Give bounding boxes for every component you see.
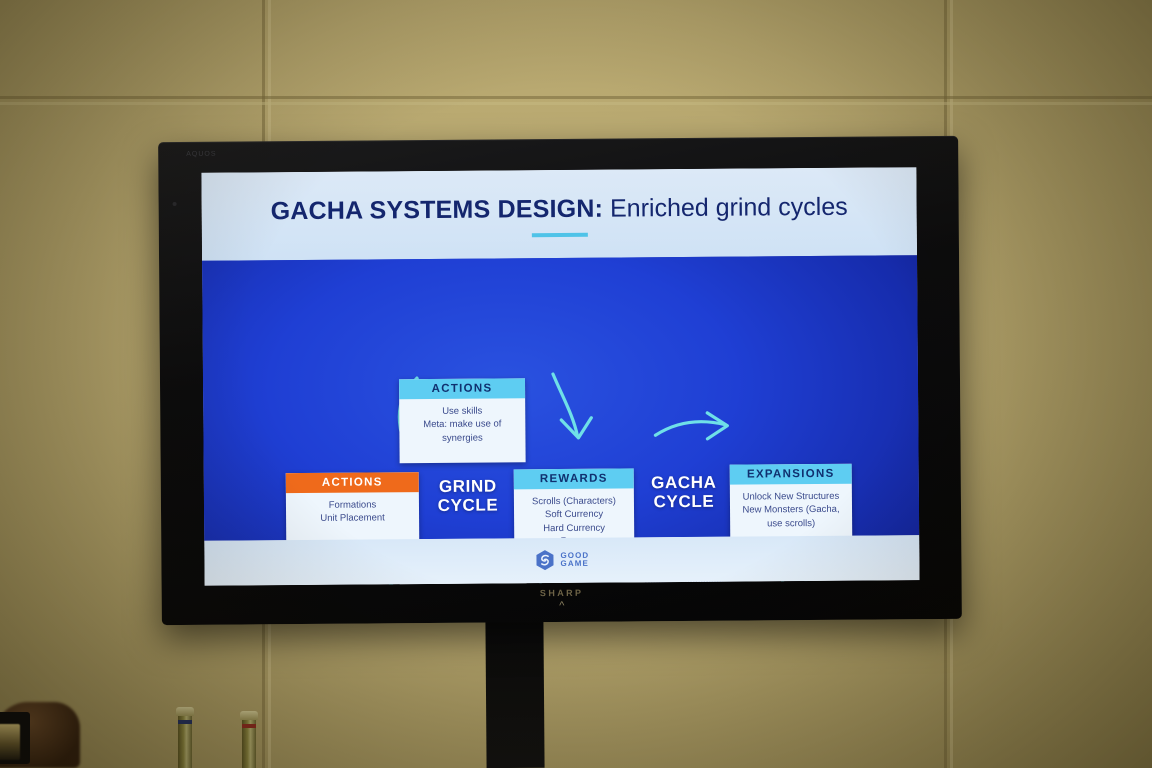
cycle-label-gacha: GACHA CYCLE (642, 473, 726, 512)
bottle-label-band (178, 720, 192, 724)
logo-line-2: GAME (560, 560, 589, 569)
diagram-box-actions-top: ACTIONS Use skills Meta: make use of syn… (399, 378, 526, 463)
wall-seam (0, 96, 1152, 99)
cycle-label-gacha-line1: GACHA (642, 473, 726, 493)
goodgame-hex-icon (534, 549, 554, 571)
box-line: Formations (291, 498, 414, 512)
tv-power-led (173, 202, 177, 206)
title-underline-rule (531, 233, 587, 237)
box-line: Meta: make use of (404, 418, 520, 432)
box-line: New Monsters (Gacha, (735, 503, 847, 517)
box-body: Use skills Meta: make use of synergies (399, 398, 525, 452)
slide-body: GRIND CYCLE GACHA CYCLE ACTIONS Use skil… (202, 255, 919, 541)
bottle (242, 710, 256, 768)
chevron-up-icon: ^ (162, 598, 962, 615)
page-title: GACHA SYSTEMS DESIGN: Enriched grind cyc… (202, 192, 917, 227)
cycle-label-gacha-line2: CYCLE (642, 492, 726, 512)
slide-footer: GOOD GAME (204, 535, 919, 586)
wall-seam (0, 102, 1152, 105)
arrow-curved-down-icon (543, 368, 600, 446)
cycle-label-grind-line1: GRIND (426, 476, 510, 496)
tv-model-label: AQUOS (186, 151, 216, 158)
cycle-label-grind: GRIND CYCLE (426, 476, 510, 515)
slide-header: GACHA SYSTEMS DESIGN: Enriched grind cyc… (201, 167, 917, 261)
box-body: Formations Unit Placement (286, 492, 419, 533)
presentation-slide: GACHA SYSTEMS DESIGN: Enriched grind cyc… (201, 167, 919, 586)
tv-stand (485, 620, 544, 768)
goodgame-wordmark: GOOD GAME (560, 551, 589, 568)
tv-screen: GACHA SYSTEMS DESIGN: Enriched grind cyc… (201, 167, 919, 586)
box-header: EXPANSIONS (730, 464, 852, 485)
box-line: synergies (404, 431, 520, 445)
box-line: Unit Placement (291, 512, 414, 526)
box-header: ACTIONS (399, 378, 525, 399)
box-header: REWARDS (514, 468, 634, 489)
sharp-television: AQUOS SHARP ^ GACHA SYSTEMS DESIGN: Enri… (158, 136, 962, 625)
bottle-cap (240, 711, 258, 720)
box-line: Scrolls (Characters) (519, 494, 629, 508)
cycle-label-grind-line2: CYCLE (426, 495, 510, 515)
phone-screen (0, 724, 20, 760)
box-line: Hard Currency (519, 521, 629, 535)
box-body: Unlock New Structures New Monsters (Gach… (730, 484, 852, 538)
arrow-right-icon (651, 409, 733, 450)
bottle-cap (176, 707, 194, 716)
page-title-strong: GACHA SYSTEMS DESIGN: (271, 195, 604, 226)
page-title-light: Enriched grind cycles (603, 193, 848, 223)
box-line: Use skills (404, 404, 520, 418)
goodgame-logo: GOOD GAME (534, 549, 589, 571)
box-line: Soft Currency (519, 508, 629, 522)
bottle (178, 706, 192, 768)
box-header: ACTIONS (286, 472, 419, 493)
box-line: use scrolls) (735, 517, 847, 531)
hand-holding-phone (0, 690, 90, 768)
box-line: Unlock New Structures (735, 490, 847, 504)
bottle-label-band (242, 724, 256, 728)
